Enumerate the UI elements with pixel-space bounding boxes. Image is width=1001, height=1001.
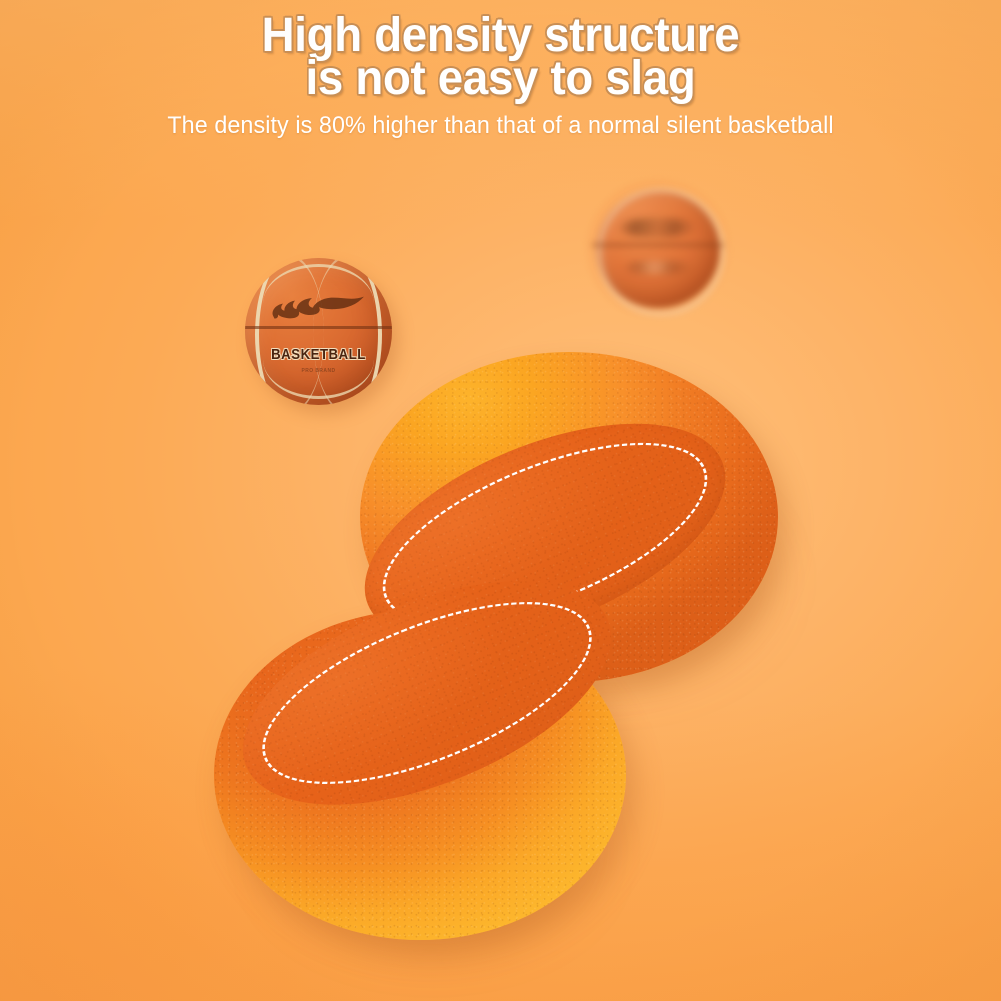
headline-line-1: High density structure (25, 6, 976, 57)
spin-seam-equator (592, 243, 723, 247)
product-feature-image: High density structure is not easy to sl… (0, 0, 1001, 1001)
basketball-spinning (596, 190, 720, 308)
headline-block: High density structure is not easy to sl… (0, 6, 1001, 140)
ball-seam-equator (245, 326, 392, 329)
headline-line-2: is not easy to slag (25, 57, 976, 100)
bottom-hemisphere (214, 596, 634, 944)
spin-wordmark-blur (623, 261, 692, 274)
flame-icon (269, 293, 369, 325)
spin-seam-rim (598, 189, 723, 315)
ball-seam-left (255, 258, 324, 405)
headline-subtitle: The density is 80% higher than that of a… (15, 112, 986, 140)
